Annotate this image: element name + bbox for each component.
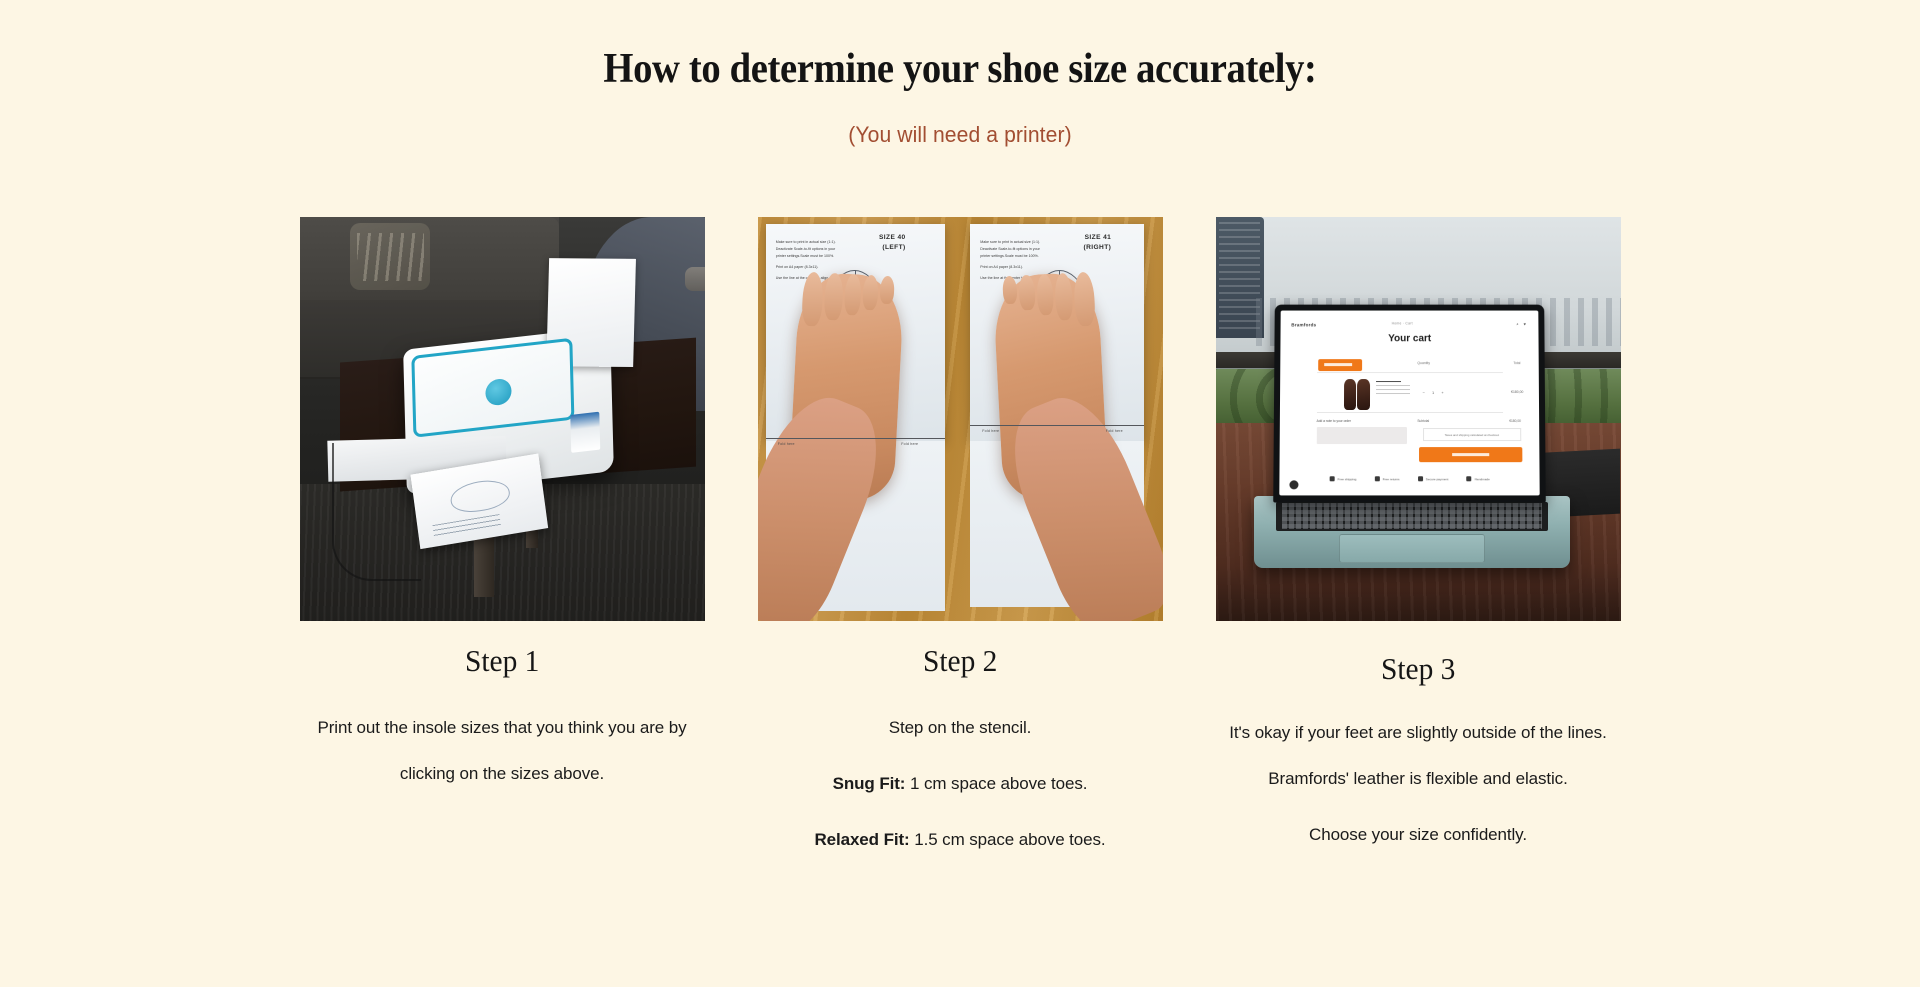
fold-here-label: Fold here xyxy=(778,442,795,446)
item-total: €180,00 xyxy=(1511,390,1523,394)
trackpad xyxy=(1339,534,1484,563)
snug-fit-value: 1 cm space above toes. xyxy=(910,774,1087,793)
product-thumbnail xyxy=(1344,379,1370,410)
quantity-stepper: − 1 + xyxy=(1423,390,1447,395)
page-subtitle: (You will need a printer) xyxy=(38,122,1881,148)
fold-here-label: Fold here xyxy=(901,442,918,446)
cart-page-screen: Bramfords Home · Cart ⌕ ♥ Your cart Quan… xyxy=(1280,311,1540,496)
keyboard xyxy=(1276,502,1548,531)
step-text-2: Step on the stencil. Snug Fit: 1 cm spac… xyxy=(758,705,1163,863)
step-line: Relaxed Fit: 1.5 cm space above toes. xyxy=(758,817,1163,863)
page-header: How to determine your shoe size accurate… xyxy=(0,46,1920,148)
step-line: It's okay if your feet are slightly outs… xyxy=(1220,710,1617,802)
badge-icon xyxy=(1330,476,1335,481)
hp-logo-icon xyxy=(485,378,512,407)
stencil-size-label-right: SIZE 41 (RIGHT) xyxy=(1084,233,1112,253)
cart-page-title: Your cart xyxy=(1281,333,1539,344)
control-panel xyxy=(570,412,600,453)
badge-icon xyxy=(1418,476,1423,481)
step-column-1: Step 1 Print out the insole sizes that y… xyxy=(300,217,705,797)
step-line: Snug Fit: 1 cm space above toes. xyxy=(758,761,1163,807)
badge-icon xyxy=(1375,476,1380,481)
step-line: Step on the stencil. xyxy=(758,705,1163,751)
trust-badge: Free returns xyxy=(1375,476,1400,481)
laptop-base xyxy=(1254,496,1570,569)
trust-badge: Free shipping xyxy=(1330,476,1357,481)
power-cable xyxy=(332,443,421,580)
order-note-label: Add a note to your order xyxy=(1317,419,1351,423)
trust-badges: Free shipping Free returns Secure paymen… xyxy=(1280,468,1540,490)
checkout-button xyxy=(1419,447,1523,462)
fold-here-label: Fold here xyxy=(1106,429,1123,433)
fold-here-label: Fold here xyxy=(982,429,999,433)
step-column-3: Bramfords Home · Cart ⌕ ♥ Your cart Quan… xyxy=(1216,217,1621,858)
printer-photo xyxy=(300,217,705,621)
brand-logo: Bramfords xyxy=(1292,322,1317,327)
stencil-feet-photo: Make sure to print in actual size (1:1).… xyxy=(758,217,1163,621)
product-details xyxy=(1376,381,1410,397)
step-line: Print out the insole sizes that you thin… xyxy=(306,705,699,797)
relaxed-fit-value: 1.5 cm space above toes. xyxy=(914,830,1105,849)
order-note-input xyxy=(1317,427,1408,444)
cart-table-header: Quantity Total xyxy=(1418,361,1521,365)
relaxed-fit-label: Relaxed Fit: xyxy=(814,830,909,849)
laptop-cart-photo: Bramfords Home · Cart ⌕ ♥ Your cart Quan… xyxy=(1216,217,1621,621)
steps-container: Step 1 Print out the insole sizes that y… xyxy=(0,217,1920,863)
shoe-size-guide-page: How to determine your shoe size accurate… xyxy=(0,0,1920,987)
header-icons: ⌕ ♥ xyxy=(1517,321,1529,326)
step-text-1: Print out the insole sizes that you thin… xyxy=(300,705,705,797)
breadcrumb: Home · Cart xyxy=(1392,321,1413,325)
printer-device xyxy=(403,327,613,496)
continue-shopping-button xyxy=(1318,359,1362,371)
trust-badge: Handmade xyxy=(1467,476,1490,481)
step-column-2: Make sure to print in actual size (1:1).… xyxy=(758,217,1163,863)
step-heading-3: Step 3 xyxy=(1381,651,1455,687)
badge-icon xyxy=(1467,476,1472,481)
laptop-lid: Bramfords Home · Cart ⌕ ♥ Your cart Quan… xyxy=(1273,304,1546,502)
snug-fit-label: Snug Fit: xyxy=(833,774,906,793)
step-text-3: It's okay if your feet are slightly outs… xyxy=(1216,710,1621,858)
step-line: Choose your size confidently. xyxy=(1220,812,1617,858)
trust-badge: Secure payment xyxy=(1418,476,1449,481)
page-title: How to determine your shoe size accurate… xyxy=(77,46,1843,93)
step-heading-2: Step 2 xyxy=(923,643,997,679)
chat-widget-icon xyxy=(1289,480,1298,489)
stencil-size-label-left: SIZE 40 (LEFT) xyxy=(879,233,906,253)
subtotal-row: Subtotal €180,00 xyxy=(1418,419,1521,423)
step-heading-1: Step 1 xyxy=(465,643,539,679)
shipping-note: Taxes and shipping calculated at checkou… xyxy=(1423,428,1521,441)
